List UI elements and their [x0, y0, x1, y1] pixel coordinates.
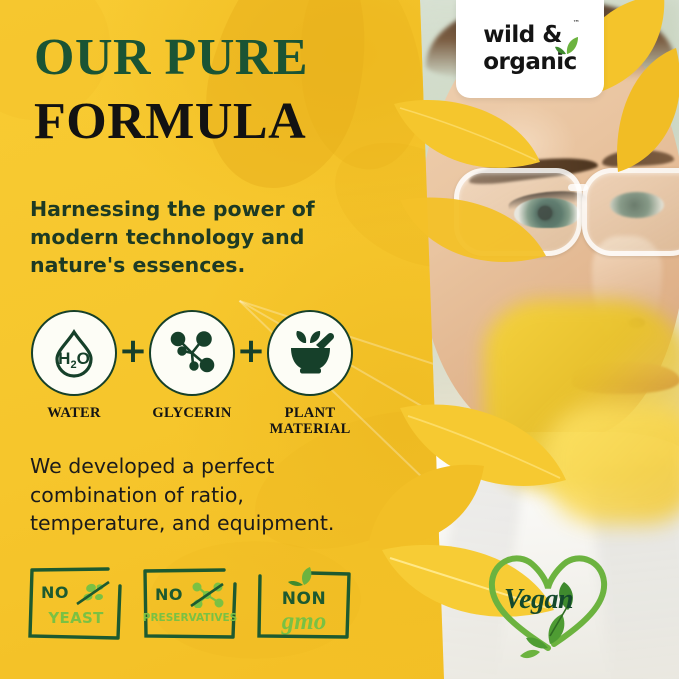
page-title-line-2: FORMULA: [34, 96, 306, 148]
ingredient-row: H2O WATER +: [30, 310, 390, 437]
ingredient-glycerin[interactable]: GLYCERIN: [148, 310, 236, 421]
trademark-symbol: ™: [573, 19, 580, 27]
badge-bottom-text: YEAST: [48, 611, 103, 626]
badge-top-row: NO: [41, 580, 111, 606]
badge-no-yeast[interactable]: NO YEAST: [26, 566, 126, 640]
leaf-sprout-icon: [284, 566, 324, 586]
decorative-leaf-icon: [398, 196, 548, 276]
badge-top-text: NO: [155, 587, 183, 603]
molecule-crossed-out-icon: [189, 582, 225, 608]
molecule-icon: [165, 326, 219, 380]
badge-content: NON gmo: [254, 566, 354, 640]
badge-no-preservatives[interactable]: NO: [140, 566, 240, 640]
ingredient-label: GLYCERIN: [148, 405, 236, 421]
svg-text:H2O: H2O: [58, 349, 90, 371]
badge-top-text: NO: [41, 585, 69, 601]
badge-non-gmo[interactable]: NON gmo: [254, 566, 354, 640]
yeast-crossed-out-icon: [75, 580, 111, 606]
plant-material-circle: [267, 310, 353, 396]
body-paragraph: We developed a perfect combination of ra…: [30, 452, 370, 538]
certification-badges: NO YEAST: [26, 566, 354, 640]
water-circle: H2O: [31, 310, 117, 396]
ingredient-label: WATER: [30, 405, 118, 421]
badge-bottom-text: PRESERVATIVES: [143, 613, 237, 624]
ingredient-label: PLANT MATERIAL: [266, 405, 354, 437]
infographic-canvas: wild & organic ™ OUR PURE FORMULA Harnes…: [0, 0, 679, 679]
intro-paragraph: Harnessing the power of modern technolog…: [30, 196, 360, 280]
badge-leaf-wrap: [284, 566, 324, 591]
badge-top-text: NON: [282, 591, 326, 608]
ingredient-plant-material[interactable]: PLANT MATERIAL: [266, 310, 354, 437]
water-drop-h2o-icon: H2O: [47, 326, 101, 380]
eyeglass-lens-right: [582, 168, 679, 256]
vegan-label: Vegan: [504, 584, 573, 616]
glycerin-circle: [149, 310, 235, 396]
plus-sign-1: +: [118, 310, 148, 392]
ingredient-list: H2O WATER +: [30, 310, 390, 437]
page-title-line-1: OUR PURE: [34, 32, 308, 84]
badge-content: NO: [140, 566, 240, 640]
brand-logo[interactable]: wild & organic ™: [456, 0, 604, 98]
decorative-leaf-icon: [612, 46, 679, 176]
eyeglass-bridge: [568, 184, 588, 191]
logo-inner: wild & organic ™: [483, 24, 577, 74]
decorative-leaf-icon: [392, 96, 542, 182]
badge-content: NO YEAST: [26, 566, 126, 640]
vegan-badge[interactable]: Vegan: [484, 544, 614, 662]
mortar-pestle-icon: [282, 325, 338, 381]
plus-sign-2: +: [236, 310, 266, 392]
badge-top-row: NO: [155, 582, 225, 608]
badge-bottom-text: gmo: [282, 609, 326, 634]
ingredient-water[interactable]: H2O WATER: [30, 310, 118, 421]
decorative-leaf-icon: [366, 462, 486, 552]
leaf-icon: [555, 36, 579, 61]
